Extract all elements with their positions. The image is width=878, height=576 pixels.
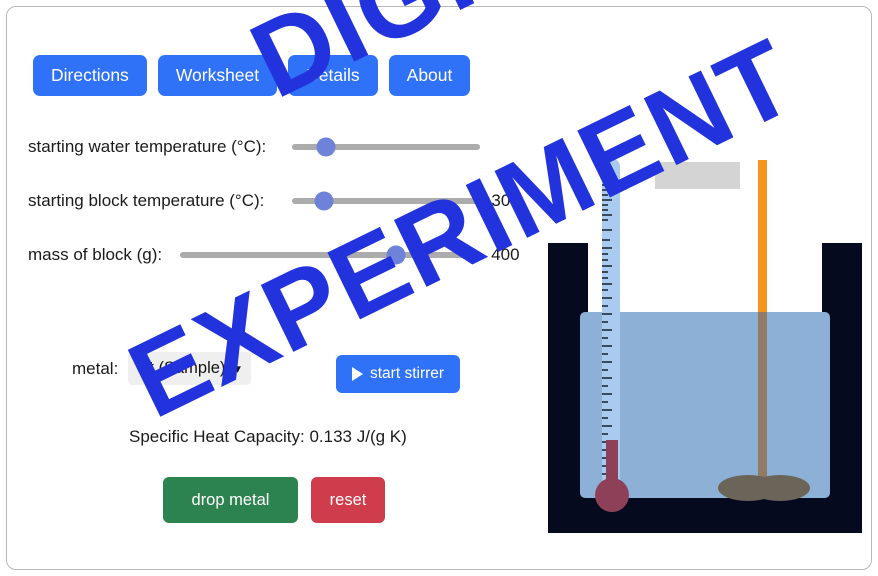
thermometer-tube — [602, 158, 620, 488]
metal-label: metal: — [72, 359, 118, 379]
water-temperature-thumb[interactable] — [317, 138, 336, 157]
nav-details-button[interactable]: Details — [288, 55, 378, 96]
block-temperature-row: starting block temperature (°C): 30 — [28, 174, 548, 228]
chevron-down-icon: ▾ — [234, 362, 241, 375]
start-stirrer-button[interactable]: start stirrer — [336, 355, 460, 393]
play-icon — [352, 367, 363, 381]
block-temperature-value: 30 — [491, 191, 531, 211]
specific-heat-capacity-text: Specific Heat Capacity: 0.133 J/(g K) — [129, 427, 407, 447]
metal-block — [655, 162, 740, 189]
start-stirrer-label: start stirrer — [370, 365, 444, 383]
block-temperature-thumb[interactable] — [315, 192, 334, 211]
app-root: Directions Worksheet Details About start… — [0, 0, 878, 576]
calorimeter-bottom — [548, 495, 862, 533]
controls-panel: starting water temperature (°C): startin… — [28, 120, 548, 282]
mass-of-block-value: 400 — [491, 245, 531, 265]
action-buttons: drop metal reset — [163, 477, 385, 523]
metal-select-value: Pt (Sample) — [138, 359, 225, 378]
block-temperature-track[interactable] — [292, 198, 480, 204]
thermometer-bulb — [595, 478, 629, 512]
mass-of-block-row: mass of block (g): 400 — [28, 228, 548, 282]
mass-of-block-thumb[interactable] — [387, 246, 406, 265]
stirrer-rod-above-water — [758, 160, 767, 312]
top-nav: Directions Worksheet Details About — [33, 55, 470, 96]
water-temperature-slider[interactable] — [292, 136, 480, 158]
mass-of-block-track[interactable] — [180, 252, 480, 258]
stirrer-paddle-right — [750, 475, 810, 501]
water-temperature-row: starting water temperature (°C): — [28, 120, 548, 174]
reset-button[interactable]: reset — [311, 477, 385, 523]
calorimeter-apparatus — [540, 140, 870, 550]
stirrer-rod-submerged — [758, 312, 767, 488]
nav-directions-button[interactable]: Directions — [33, 55, 147, 96]
water-temperature-label: starting water temperature (°C): — [28, 137, 266, 157]
mass-of-block-slider[interactable] — [180, 244, 480, 266]
metal-select[interactable]: Pt (Sample) ▾ — [128, 352, 251, 385]
block-temperature-slider[interactable] — [292, 190, 480, 212]
water-temperature-track[interactable] — [292, 144, 480, 150]
metal-selector-row: metal: Pt (Sample) ▾ — [72, 352, 251, 385]
mass-of-block-label: mass of block (g): — [28, 245, 162, 265]
nav-about-button[interactable]: About — [389, 55, 471, 96]
drop-metal-button[interactable]: drop metal — [163, 477, 298, 523]
block-temperature-label: starting block temperature (°C): — [28, 191, 264, 211]
nav-worksheet-button[interactable]: Worksheet — [158, 55, 277, 96]
